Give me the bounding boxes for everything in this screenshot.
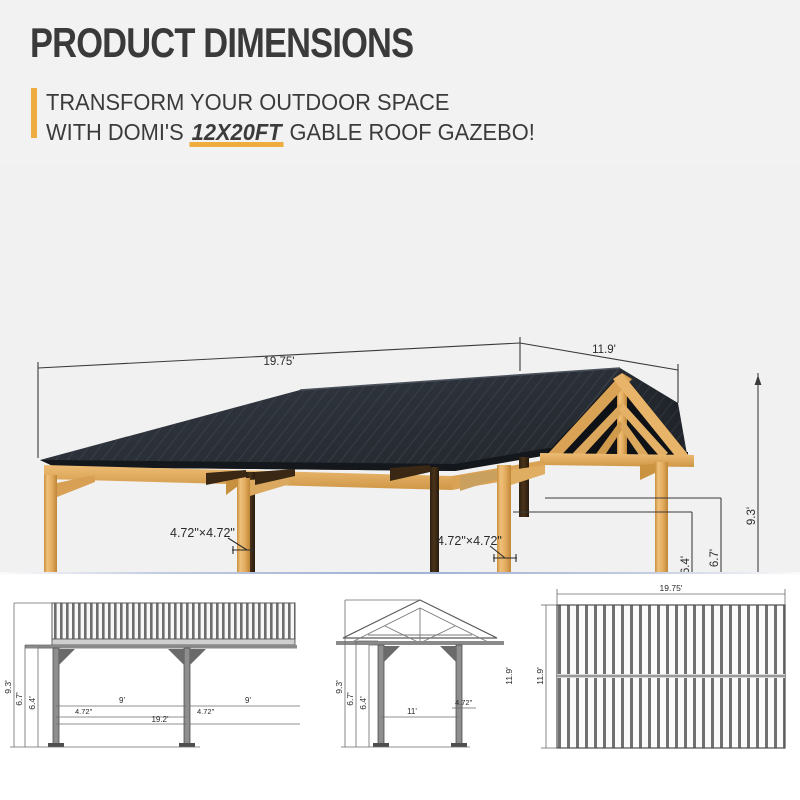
se-label-post-width-b: 4.72" xyxy=(197,707,215,716)
blueprint-views-panel: 9.3' 6.7' 6.4' 9' 9' 4.72" 4.72" 19.2' xyxy=(0,575,800,800)
subtitle-line-1: TRANSFORM YOUR OUTDOOR SPACE xyxy=(46,91,449,114)
subtitle-line-2: WITH DOMI'S 12X20FT GABLE ROOF GAZEBO! xyxy=(46,121,535,144)
label-eave-outer: 6.7' xyxy=(709,549,721,567)
se-label-overall-length: 19.2' xyxy=(151,715,169,724)
orthographic-views: 9.3' 6.7' 6.4' 9' 9' 4.72" 4.72" 19.2' xyxy=(0,575,800,800)
plan-label-length: 19.75' xyxy=(660,583,683,593)
isometric-gazebo-diagram: 19.75' 11.9' xyxy=(0,165,800,573)
subtitle-pre: WITH DOMI'S xyxy=(46,119,190,145)
product-dimensions-infographic: PRODUCT DIMENSIONS TRANSFORM YOUR OUTDOO… xyxy=(0,0,800,800)
page-title: PRODUCT DIMENSIONS xyxy=(30,22,413,64)
main-render-panel: 19.75' 11.9' xyxy=(0,165,800,573)
label-roof-length: 19.75' xyxy=(264,356,295,368)
fe-label-total-height: 9.3' xyxy=(334,680,344,694)
se-label-post-height: 6.4' xyxy=(27,696,37,710)
header-section: PRODUCT DIMENSIONS TRANSFORM YOUR OUTDOO… xyxy=(0,0,800,165)
label-post-size-right: 4.72"×4.72" xyxy=(437,534,502,548)
accent-bar xyxy=(31,88,37,138)
panel-divider xyxy=(0,572,800,574)
fe-label-inner-width: 11' xyxy=(407,707,417,716)
fe-label-post-width: 4.72" xyxy=(455,698,473,707)
fe-label-roof-depth: 11.9' xyxy=(504,667,514,685)
fe-label-post-height: 6.4' xyxy=(358,696,368,710)
side-elevation-view: 9.3' 6.7' 6.4' 9' 9' 4.72" 4.72" 19.2' xyxy=(3,603,300,747)
se-label-beam-height: 6.7' xyxy=(14,692,24,706)
label-eave-inner: 6.4' xyxy=(680,556,692,573)
plan-label-depth: 11.9' xyxy=(535,667,545,685)
se-label-post-width-a: 4.72" xyxy=(75,707,93,716)
subtitle-post: GABLE ROOF GAZEBO! xyxy=(283,119,534,145)
se-label-bay-right: 9' xyxy=(245,696,251,705)
label-peak-height: 9.3' xyxy=(746,507,758,525)
roof-plan-view: 19.75' 11.9' 11.9' xyxy=(504,583,785,748)
se-label-bay-left: 9' xyxy=(119,696,125,705)
label-roof-depth: 11.9' xyxy=(592,344,616,356)
se-label-total-height: 9.3' xyxy=(3,680,13,694)
label-post-size-left: 4.72"×4.72" xyxy=(170,526,235,540)
front-elevation-view: 9.3' 6.7' 6.4' 11' 4.72" xyxy=(334,600,504,747)
fe-label-beam-height: 6.7' xyxy=(345,692,355,706)
size-highlight: 12X20FT xyxy=(190,121,284,144)
